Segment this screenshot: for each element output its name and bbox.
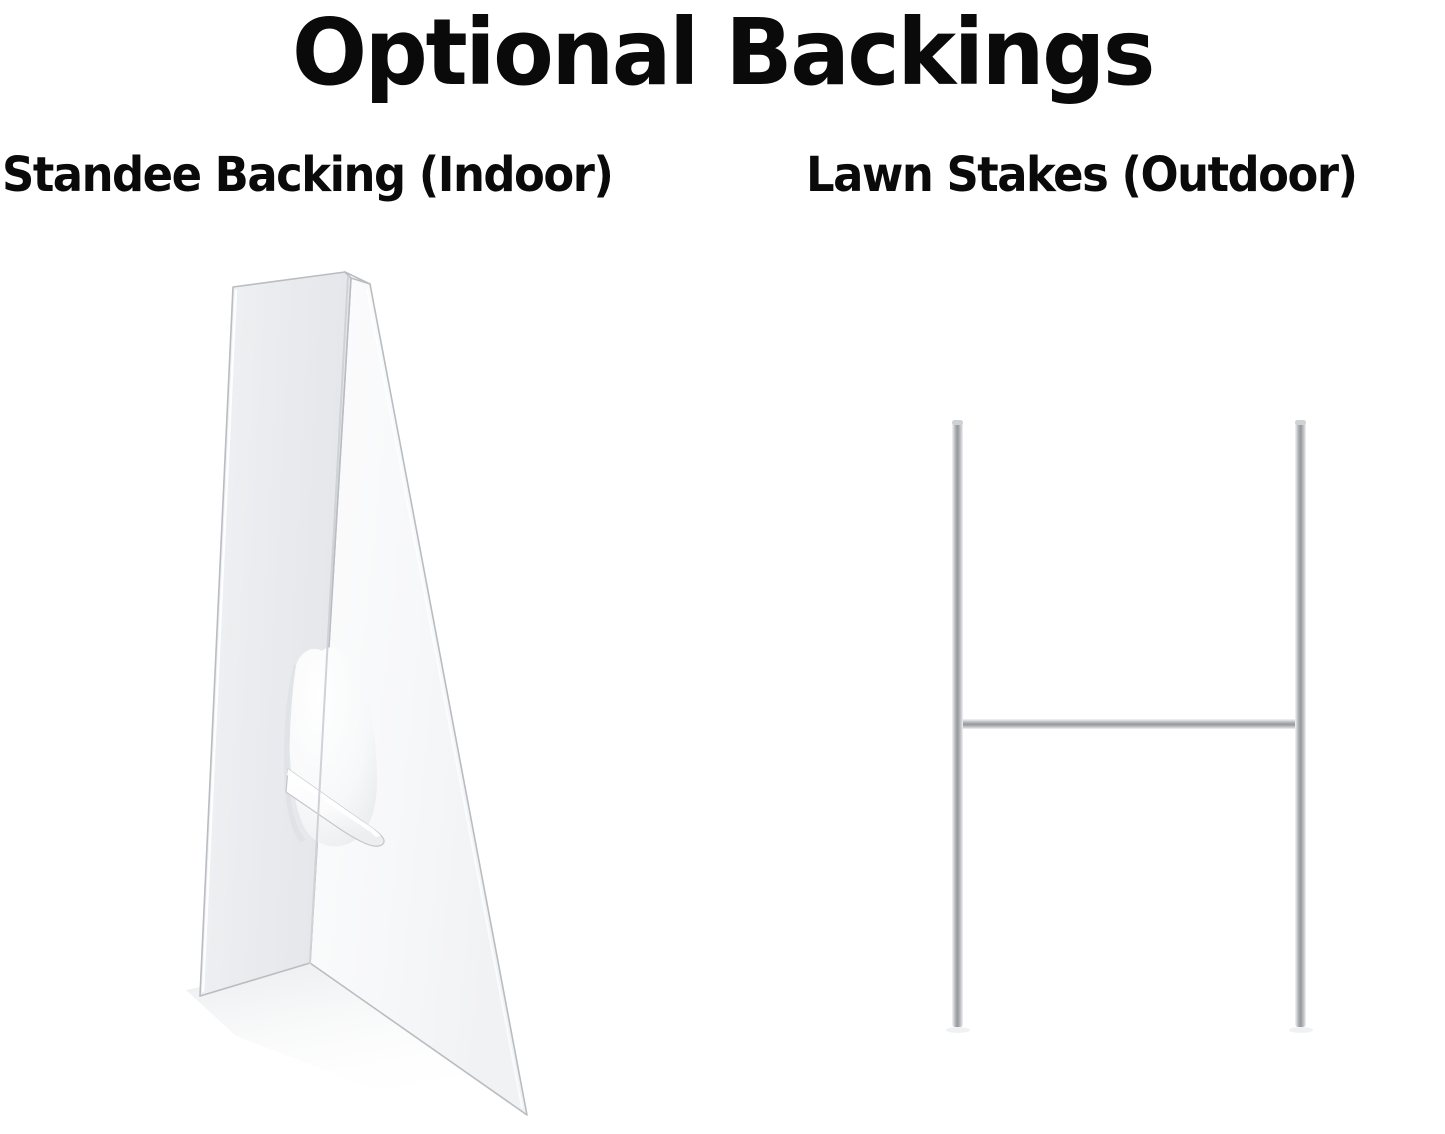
stake-right-rod	[1295, 420, 1306, 1027]
stake-left-tip-shadow	[946, 1027, 970, 1033]
lawn-stakes-illustration-panel	[722, 0, 1445, 1134]
standee-illustration-panel	[0, 0, 722, 1134]
stake-right-rod-cap	[1295, 420, 1306, 425]
stake-right-tip-shadow	[1289, 1027, 1313, 1033]
stake-crossbar	[957, 719, 1305, 729]
poster-canvas: Optional Backings Standee Backing (Indoo…	[0, 0, 1445, 1134]
stake-left-rod-cap	[952, 420, 963, 425]
lawn-stake-graphic	[722, 0, 1445, 1134]
standee-backing-graphic	[0, 0, 722, 1134]
stake-left-rod	[952, 420, 963, 1027]
